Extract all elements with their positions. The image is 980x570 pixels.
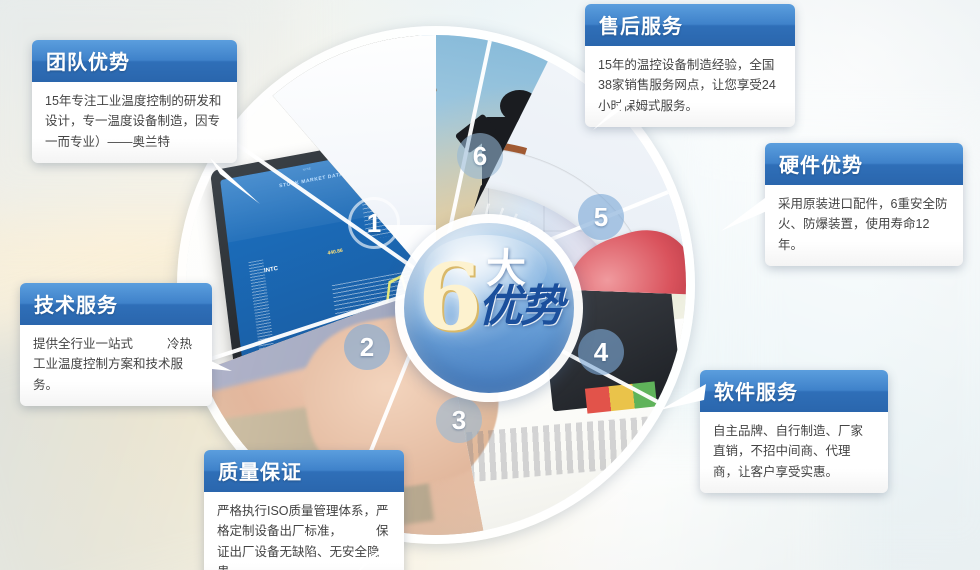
badge-label: 5 <box>594 202 608 233</box>
card-pointer-tail <box>660 384 708 428</box>
badge-number-6[interactable]: 6 <box>457 133 503 179</box>
badge-label: 2 <box>360 332 374 363</box>
card-hardware-advantage[interactable]: 硬件优势 采用原装进口配件，6重安全防火、防爆装置，使用寿命12年。 <box>765 143 963 266</box>
card-title: 硬件优势 <box>765 143 963 185</box>
card-quality-assurance[interactable]: 质量保证 严格执行ISO质量管理体系，严格定制设备出厂标准，保证出厂设备无缺陷、… <box>204 450 404 570</box>
infographic-canvas: NYSE STOCK MARKET DATA INTC <box>0 0 980 570</box>
card-title: 软件服务 <box>700 370 888 412</box>
badge-label: 4 <box>594 337 608 368</box>
badge-number-5[interactable]: 5 <box>578 194 624 240</box>
stock-price: 440.86 <box>327 248 343 257</box>
card-title: 质量保证 <box>204 450 404 492</box>
center-script-text: 优势 <box>478 285 562 329</box>
card-body: 采用原装进口配件，6重安全防火、防爆装置，使用寿命12年。 <box>765 185 963 266</box>
card-software-service[interactable]: 软件服务 自主品牌、自行制造、厂家直销，不招中间商、代理商，让客户享受实惠。 <box>700 370 888 493</box>
badge-label: 3 <box>452 405 466 436</box>
badge-number-4[interactable]: 4 <box>578 329 624 375</box>
badge-number-3[interactable]: 3 <box>436 397 482 443</box>
card-pointer-tail <box>356 530 406 570</box>
center-number: 6 <box>418 251 482 343</box>
badge-number-2[interactable]: 2 <box>344 324 390 370</box>
card-body: 15年专注工业温度控制的研发和设计，专一温度设备制造，因专一而专业）——奥兰特 <box>32 82 237 163</box>
card-body: 自主品牌、自行制造、厂家直销，不招中间商、代理商，让客户享受实惠。 <box>700 412 888 493</box>
badge-label: 1 <box>367 208 381 239</box>
card-after-sales-service[interactable]: 售后服务 15年的温控设备制造经验，全国38家销售服务网点，让您享受24小时保姆… <box>585 4 795 127</box>
card-pointer-tail <box>210 158 262 206</box>
card-body-part1: 提供全行业一站式 <box>33 337 133 351</box>
card-pointer-tail <box>593 90 639 136</box>
card-title: 售后服务 <box>585 4 795 46</box>
card-title: 团队优势 <box>32 40 237 82</box>
card-title: 技术服务 <box>20 283 212 325</box>
badge-number-1[interactable]: 1 <box>348 197 400 249</box>
card-technical-service[interactable]: 技术服务 提供全行业一站式冷热工业温度控制方案和技术服务。 <box>20 283 212 406</box>
badge-label: 6 <box>473 141 487 172</box>
card-pointer-tail <box>186 349 234 393</box>
card-team-advantage[interactable]: 团队优势 15年专注工业温度控制的研发和设计，专一温度设备制造，因专一而专业）—… <box>32 40 237 163</box>
card-body: 提供全行业一站式冷热工业温度控制方案和技术服务。 <box>20 325 212 406</box>
card-pointer-tail <box>721 195 771 241</box>
center-logo-badge: 6 大 优势 <box>404 223 574 393</box>
